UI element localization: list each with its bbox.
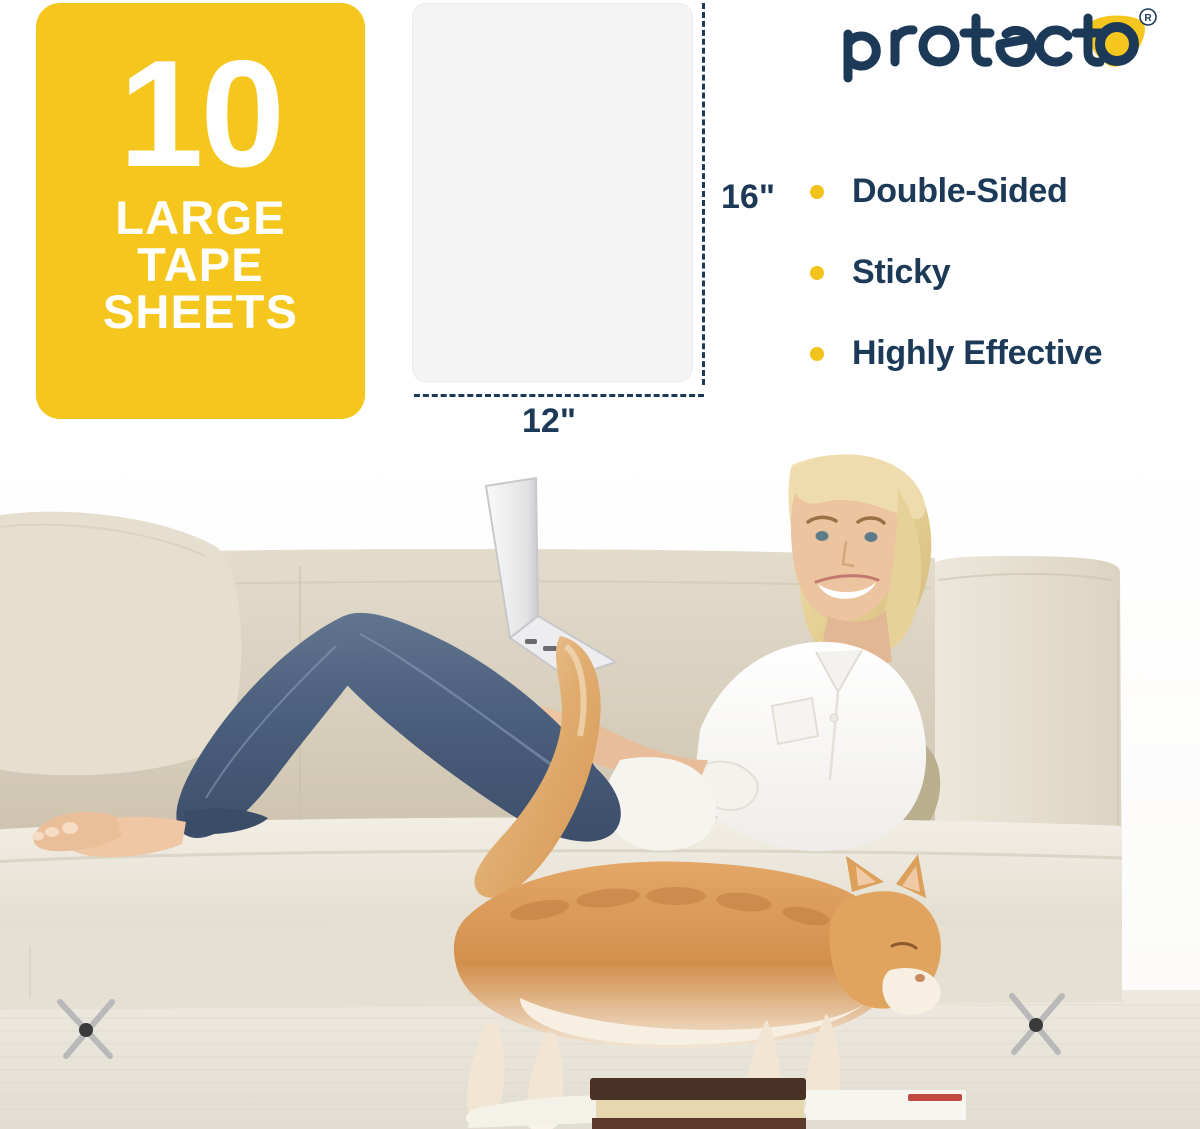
feature-list: Double-Sided Sticky Highly Effective	[810, 172, 1200, 373]
lifestyle-photo	[0, 430, 1200, 1129]
top-info-banner: 10 LARGE TAPE SHEETS 16" 12"	[0, 0, 1200, 440]
count-badge: 10 LARGE TAPE SHEETS	[36, 3, 365, 419]
bullet-dot-icon	[810, 347, 824, 361]
badge-line-3: SHEETS	[103, 288, 298, 335]
feature-item: Sticky	[810, 253, 1200, 292]
bullet-dot-icon	[810, 185, 824, 199]
booklet-marker	[908, 1094, 962, 1101]
feature-label: Double-Sided	[852, 172, 1068, 211]
leg-joint	[1029, 1018, 1043, 1032]
svg-text:R: R	[1144, 13, 1152, 24]
book-pages	[596, 1100, 804, 1118]
bullet-dot-icon	[810, 266, 824, 280]
leg-joint	[79, 1023, 93, 1037]
promo-image-canvas: 10 LARGE TAPE SHEETS 16" 12"	[0, 0, 1200, 1129]
feature-label: Sticky	[852, 253, 950, 292]
chest-pocket	[772, 698, 818, 744]
registered-trademark-icon: R	[1140, 9, 1156, 25]
badge-line-1: LARGE	[103, 194, 298, 241]
height-dimension-label: 16"	[721, 178, 775, 217]
book-second	[592, 1118, 806, 1129]
height-dimension-line	[702, 3, 705, 385]
brand-logo: R	[840, 8, 1160, 84]
badge-number: 10	[119, 49, 282, 180]
width-dimension-line	[414, 394, 704, 397]
book-top-cover	[590, 1078, 806, 1100]
button	[830, 714, 838, 722]
tape-sheet-swatch	[412, 3, 693, 382]
badge-line-2: TAPE	[103, 241, 298, 288]
badge-caption: LARGE TAPE SHEETS	[103, 194, 298, 335]
feature-item: Double-Sided	[810, 172, 1200, 211]
width-dimension-label: 12"	[522, 402, 576, 441]
feature-item: Highly Effective	[810, 334, 1200, 373]
throw-pillow	[0, 512, 241, 776]
feature-label: Highly Effective	[852, 334, 1102, 373]
